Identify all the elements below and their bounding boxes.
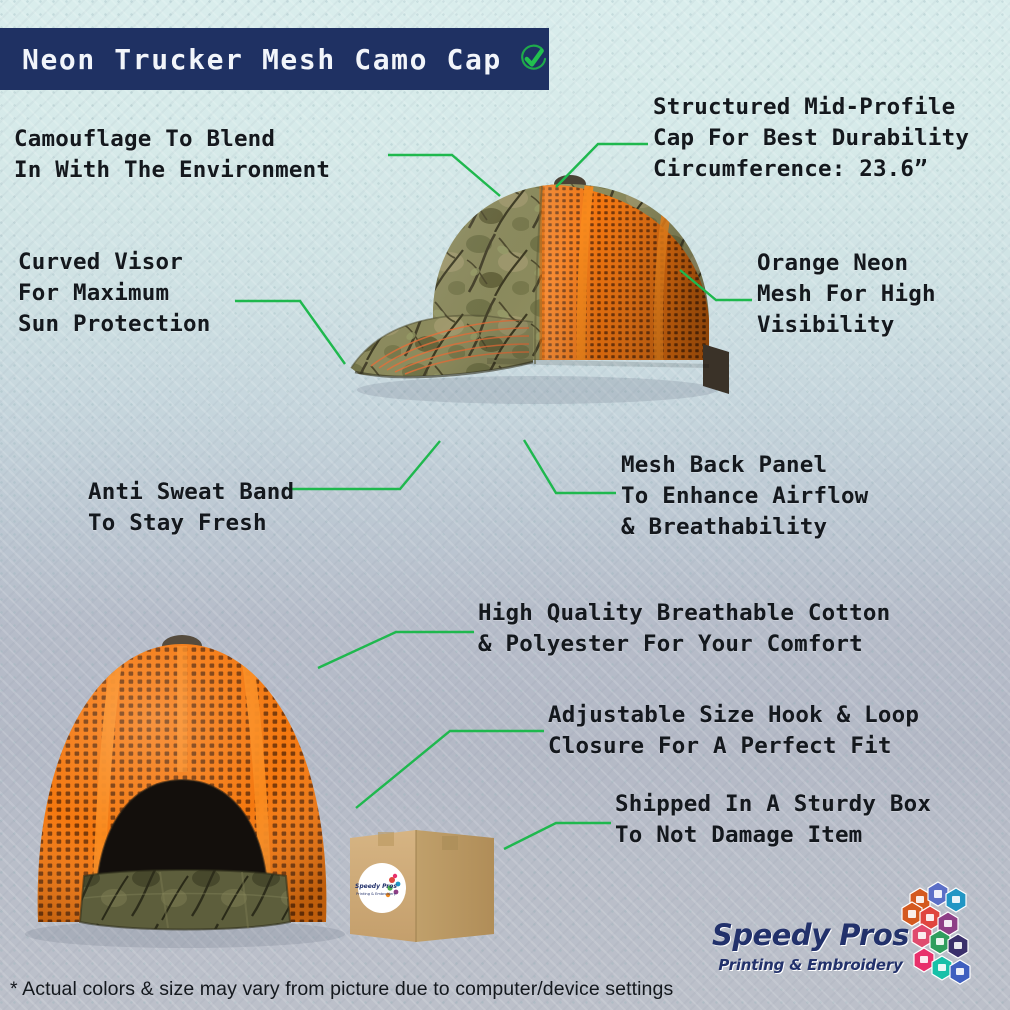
trucker-cap-side-view	[337, 168, 737, 443]
leader-mesh-back	[524, 440, 616, 493]
callout-sweatband: Anti Sweat Band To Stay Fresh	[88, 477, 294, 539]
callout-cotton: High Quality Breathable Cotton & Polyest…	[478, 598, 890, 660]
title-banner: Neon Trucker Mesh Camo Cap	[0, 28, 549, 90]
leader-adjustable	[356, 731, 544, 808]
disclaimer-text: * Actual colors & size may vary from pic…	[10, 978, 673, 1001]
svg-text:Printing & Embroidery: Printing & Embroidery	[356, 892, 397, 896]
callout-shipped: Shipped In A Sturdy Box To Not Damage It…	[615, 789, 931, 851]
cap-closure-tab	[703, 344, 729, 394]
svg-text:Speedy Pros: Speedy Pros	[355, 883, 397, 890]
callout-adjustable: Adjustable Size Hook & Loop Closure For …	[548, 700, 919, 762]
shipping-box: Speedy Pros Printing & Embroidery	[346, 818, 498, 954]
callout-mesh-back: Mesh Back Panel To Enhance Airflow & Bre…	[621, 450, 868, 543]
leader-shipped	[504, 823, 611, 849]
cap-adjustable-strap	[80, 870, 290, 930]
callout-visor: Curved Visor For Maximum Sun Protection	[18, 247, 210, 340]
page-title: Neon Trucker Mesh Camo Cap	[22, 43, 502, 76]
brand-logo: Speedy Pros Printing & Embroidery	[708, 880, 998, 988]
green-check-circle-icon	[518, 36, 549, 82]
callout-structured: Structured Mid-Profile Cap For Best Dura…	[653, 92, 969, 185]
trucker-cap-back-view	[10, 622, 360, 957]
leader-visor	[235, 301, 345, 364]
leader-sweat	[288, 441, 440, 489]
callout-camouflage: Camouflage To Blend In With The Environm…	[14, 124, 330, 186]
callout-orange-mesh: Orange Neon Mesh For High Visibility	[757, 248, 936, 341]
logo-hex-cluster	[868, 880, 998, 988]
